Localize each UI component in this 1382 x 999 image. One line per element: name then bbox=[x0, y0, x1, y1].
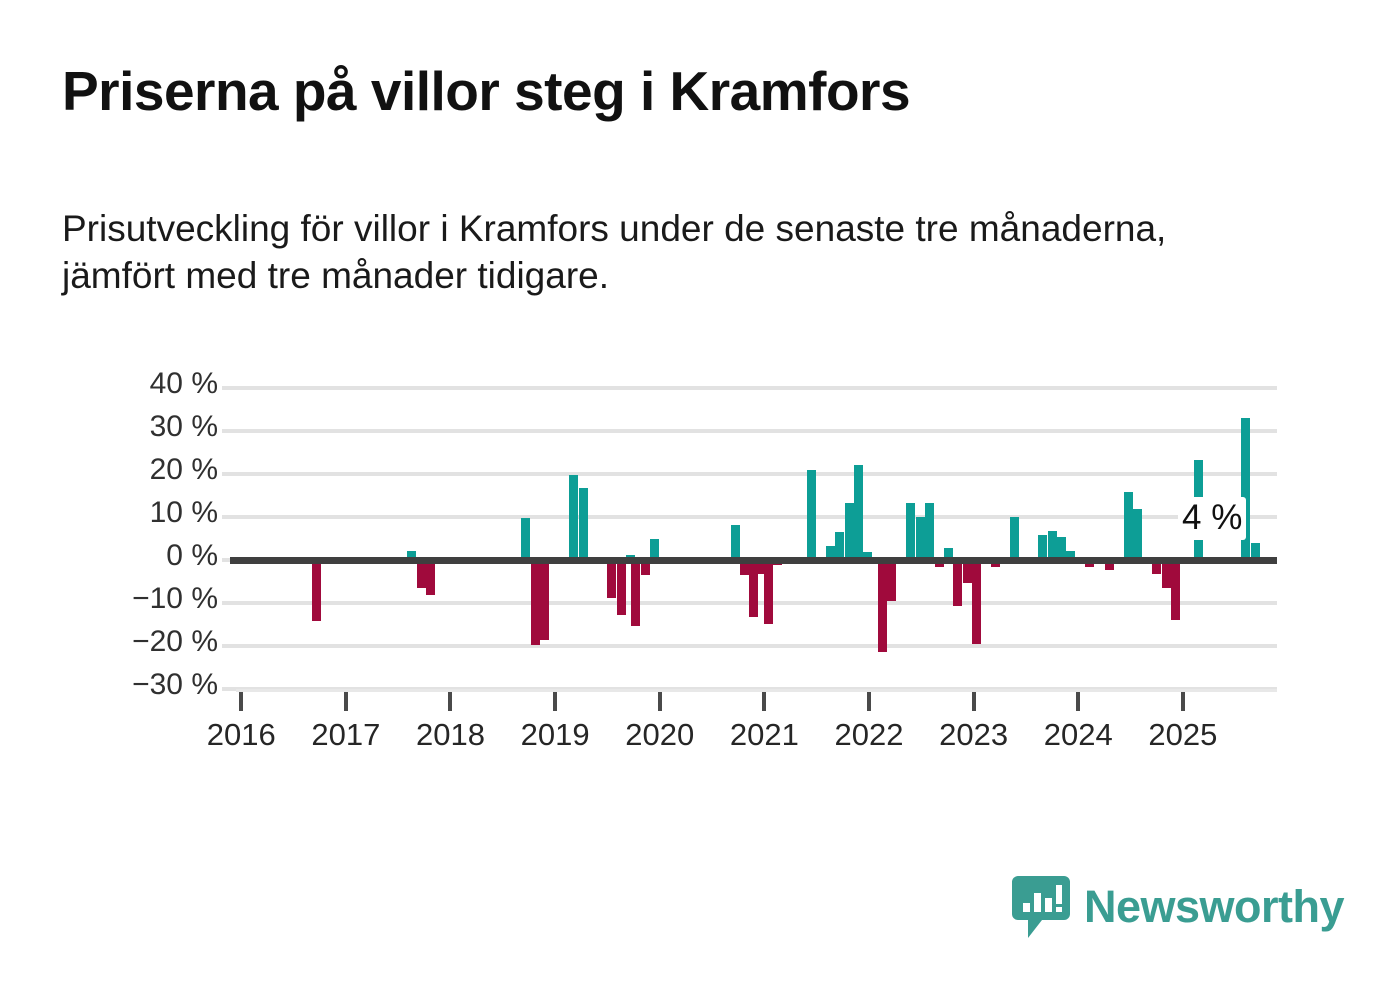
zero-baseline bbox=[230, 557, 1277, 564]
chart-bar[interactable] bbox=[426, 560, 435, 595]
x-axis-line bbox=[236, 689, 1277, 692]
gridline bbox=[236, 386, 1277, 390]
x-axis-tick-label: 2023 bbox=[914, 717, 1034, 753]
chart-bar[interactable] bbox=[540, 560, 549, 640]
chart-bar[interactable] bbox=[1133, 509, 1142, 560]
chart-canvas: 40 %30 %20 %10 %0 %−10 %−20 %−30 % 20162… bbox=[0, 0, 1382, 999]
chart-bar[interactable] bbox=[569, 475, 578, 560]
y-axis-tick-mark bbox=[222, 601, 236, 605]
gridline bbox=[236, 644, 1277, 648]
chart-bar[interactable] bbox=[731, 525, 740, 560]
x-axis-tick-mark bbox=[448, 692, 452, 711]
chart-bar[interactable] bbox=[1162, 560, 1171, 588]
chart-bar[interactable] bbox=[972, 560, 981, 644]
y-axis-tick-label: 40 % bbox=[58, 367, 218, 401]
chart-bar[interactable] bbox=[887, 560, 896, 601]
x-axis-tick-mark bbox=[344, 692, 348, 711]
chart-bar[interactable] bbox=[1171, 560, 1180, 620]
y-axis-tick-mark bbox=[222, 687, 236, 691]
chart-bar[interactable] bbox=[925, 503, 934, 560]
chart-bar[interactable] bbox=[531, 560, 540, 645]
y-axis-tick-mark bbox=[222, 386, 236, 390]
x-axis-tick-label: 2025 bbox=[1123, 717, 1243, 753]
x-axis-tick-mark bbox=[1076, 692, 1080, 711]
chart-bar[interactable] bbox=[845, 503, 854, 560]
chart-bar[interactable] bbox=[953, 560, 962, 606]
chart-bar[interactable] bbox=[607, 560, 616, 598]
x-axis-tick-label: 2020 bbox=[600, 717, 720, 753]
chart-bar[interactable] bbox=[807, 470, 816, 560]
chart-bar[interactable] bbox=[521, 518, 530, 560]
newsworthy-logo[interactable]: Newsworthy bbox=[1012, 876, 1344, 938]
x-axis-tick-label: 2022 bbox=[809, 717, 929, 753]
y-axis-tick-label: 0 % bbox=[58, 539, 218, 573]
x-axis-tick-mark bbox=[239, 692, 243, 711]
chart-bar[interactable] bbox=[878, 560, 887, 652]
chart-bar[interactable] bbox=[835, 532, 844, 560]
last-value-annotation: 4 % bbox=[1178, 497, 1246, 540]
x-axis-tick-mark bbox=[972, 692, 976, 711]
y-axis-tick-label: 20 % bbox=[58, 453, 218, 487]
gridline bbox=[236, 429, 1277, 433]
x-axis-tick-label: 2016 bbox=[181, 717, 301, 753]
chart-bar[interactable] bbox=[764, 560, 773, 624]
x-axis-tick-label: 2021 bbox=[704, 717, 824, 753]
gridline bbox=[236, 515, 1277, 519]
x-axis-tick-mark bbox=[762, 692, 766, 711]
chart-bar[interactable] bbox=[1010, 517, 1019, 560]
y-axis-tick-mark bbox=[222, 644, 236, 648]
chart-bar[interactable] bbox=[312, 560, 321, 621]
x-axis-tick-label: 2024 bbox=[1018, 717, 1138, 753]
y-axis-tick-label: −20 % bbox=[58, 625, 218, 659]
x-axis-tick-mark bbox=[658, 692, 662, 711]
chart-bar[interactable] bbox=[1048, 531, 1057, 560]
chart-bar[interactable] bbox=[579, 488, 588, 560]
chart-bar[interactable] bbox=[417, 560, 426, 588]
x-axis-tick-label: 2017 bbox=[286, 717, 406, 753]
chart-bar[interactable] bbox=[906, 503, 915, 560]
y-axis-tick-mark bbox=[222, 429, 236, 433]
bar-chart-speech-bubble-icon bbox=[1012, 876, 1070, 938]
x-axis-tick-mark bbox=[1181, 692, 1185, 711]
x-axis-tick-label: 2018 bbox=[390, 717, 510, 753]
y-axis-tick-label: 30 % bbox=[58, 410, 218, 444]
y-axis-tick-label: −10 % bbox=[58, 582, 218, 616]
x-axis-tick-mark bbox=[867, 692, 871, 711]
chart-bar[interactable] bbox=[854, 465, 863, 560]
y-axis-tick-label: −30 % bbox=[58, 668, 218, 702]
y-axis-tick-label: 10 % bbox=[58, 496, 218, 530]
plot-area bbox=[236, 388, 1277, 689]
chart-bar[interactable] bbox=[916, 517, 925, 560]
chart-bar[interactable] bbox=[1124, 492, 1133, 560]
brand-name: Newsworthy bbox=[1084, 881, 1344, 933]
gridline bbox=[236, 472, 1277, 476]
chart-bar[interactable] bbox=[631, 560, 640, 626]
x-axis-tick-label: 2019 bbox=[495, 717, 615, 753]
x-axis-tick-mark bbox=[553, 692, 557, 711]
chart-bar[interactable] bbox=[617, 560, 626, 615]
y-axis-tick-mark bbox=[222, 472, 236, 476]
y-axis-tick-mark bbox=[222, 515, 236, 519]
